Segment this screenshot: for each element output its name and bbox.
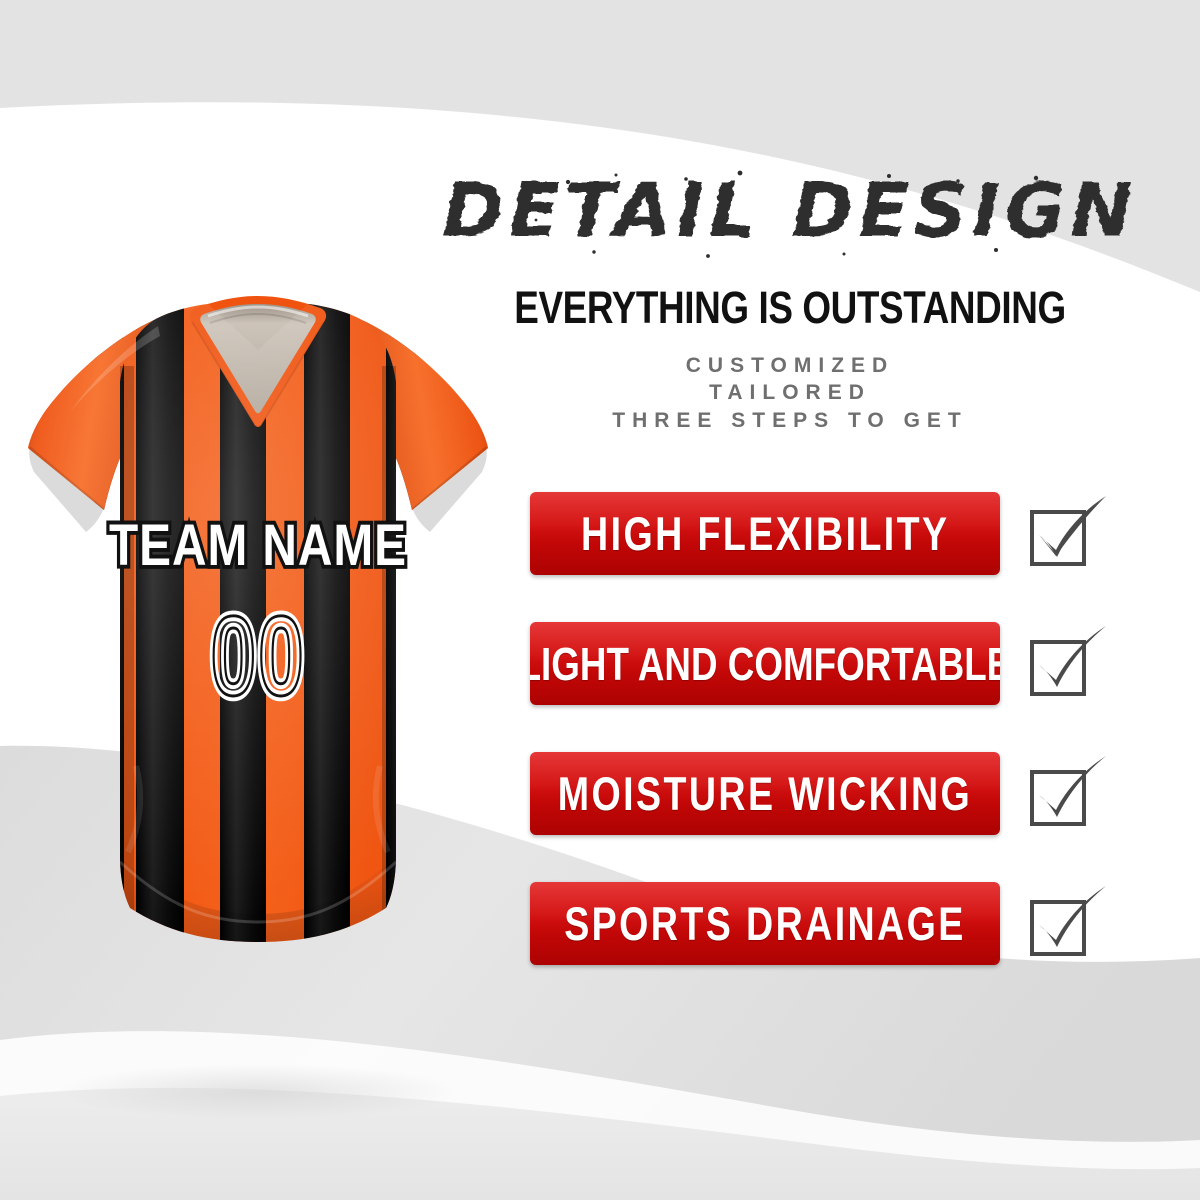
title-wrap: DETAIL DESIGN EVERYTHING IS OUTSTANDING: [430, 160, 1150, 330]
page-title: DETAIL DESIGN: [443, 168, 1138, 254]
feature-bar-light-and-comfortable[interactable]: LIGHT AND COMFORTABLE: [530, 622, 1000, 705]
feature-bar-moisture-wicking[interactable]: MOISTURE WICKING: [530, 752, 1000, 835]
checkbox-checked-icon[interactable]: [1022, 750, 1110, 838]
page-subtitle: EVERYTHING IS OUTSTANDING: [495, 285, 1085, 330]
checkbox-checked-icon[interactable]: [1022, 490, 1110, 578]
tagline-block: CUSTOMIZED TAILORED THREE STEPS TO GET: [430, 352, 1150, 434]
jersey-number: 00 00: [210, 593, 305, 720]
feature-label: LIGHT AND COMFORTABLE: [530, 641, 1000, 687]
feature-row: LIGHT AND COMFORTABLE: [530, 622, 1150, 705]
feature-bar-sports-drainage[interactable]: SPORTS DRAINAGE: [530, 882, 1000, 965]
checkbox-checked-icon[interactable]: [1022, 880, 1110, 968]
svg-text:TEAM NAME: TEAM NAME: [109, 513, 407, 577]
tagline-1: CUSTOMIZED: [430, 352, 1150, 379]
checkbox-checked-icon[interactable]: [1022, 620, 1110, 708]
feature-row: SPORTS DRAINAGE: [530, 882, 1150, 965]
feature-list: HIGH FLEXIBILITY LIGHT AND COMFORTABLE M…: [530, 492, 1150, 965]
product-detail-banner: TEAM NAME 00 00 DETAIL DESIGN: [0, 0, 1200, 1200]
page-title-graphic: DETAIL DESIGN: [440, 160, 1140, 264]
headline-block: DETAIL DESIGN EVERYTHING IS OUTSTANDING …: [430, 160, 1150, 434]
feature-label: SPORTS DRAINAGE: [564, 900, 966, 947]
feature-label: HIGH FLEXIBILITY: [581, 510, 949, 557]
svg-text:00: 00: [210, 593, 305, 720]
jersey-team-name: TEAM NAME: [109, 513, 407, 577]
feature-row: MOISTURE WICKING: [530, 752, 1150, 835]
feature-label: MOISTURE WICKING: [558, 770, 972, 817]
tagline-2: TAILORED: [430, 379, 1150, 406]
feature-bar-high-flexibility[interactable]: HIGH FLEXIBILITY: [530, 492, 1000, 575]
feature-row: HIGH FLEXIBILITY: [530, 492, 1150, 575]
floor-shadow: [58, 1064, 458, 1120]
tagline-3: THREE STEPS TO GET: [430, 407, 1150, 434]
